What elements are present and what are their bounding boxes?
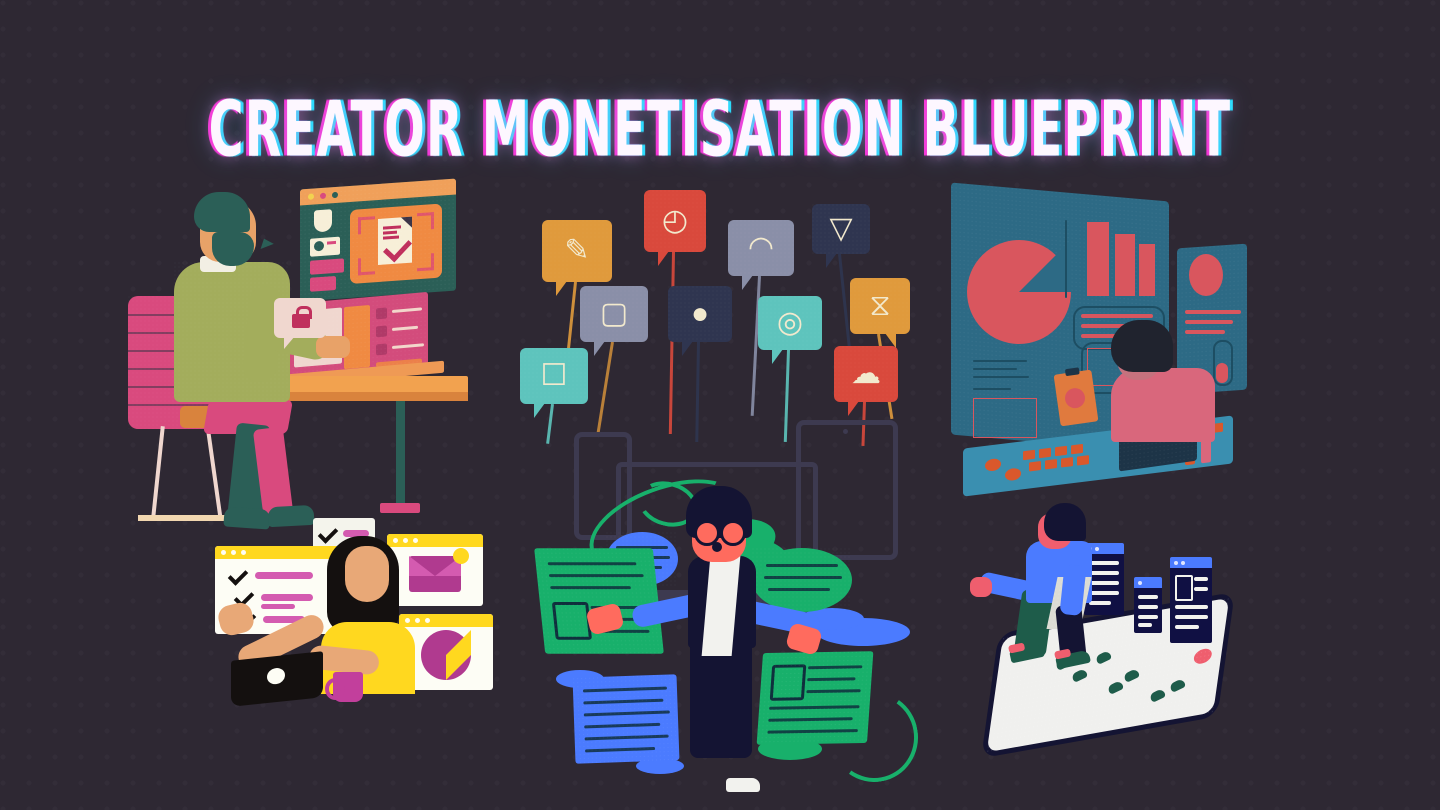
speech-bubble-tail [658, 251, 669, 266]
speech-bubble-tail [826, 253, 837, 268]
bubble-stick [669, 252, 675, 434]
hourglass-icon: ⧖ [850, 278, 910, 334]
document-icon [1175, 575, 1193, 601]
window-title-bar [1170, 557, 1212, 568]
list-item [310, 276, 336, 292]
person-mouth [712, 542, 722, 552]
person-hair [1044, 503, 1086, 541]
webcam-icon: ◎ [758, 296, 822, 350]
window-title-bar [1134, 577, 1162, 588]
gauge-ellipse [1189, 254, 1223, 296]
page-title: CREATOR MONETISATION BLUEPRINT CREATOR M… [0, 90, 1440, 170]
speech-bubble-tail [284, 336, 295, 349]
title-ghost-cyan: CREATOR MONETISATION BLUEPRINT [118, 81, 1328, 179]
notification-badge [453, 548, 469, 564]
illustration-icon-bubbles: ✎◴◠▽▢●◎⧖☐☁ [520, 190, 920, 420]
text-line [973, 360, 1027, 362]
window-dot-yellow [308, 193, 314, 199]
window-title-bar [215, 546, 341, 559]
glasses-icon [720, 520, 746, 546]
title-ghost-magenta: CREATOR MONETISATION BLUEPRINT [112, 81, 1322, 179]
text-line [973, 368, 1017, 370]
lock-speech-bubble [274, 298, 326, 338]
window-title-bar [399, 614, 493, 627]
speech-bubble-rss[interactable]: ◠ [728, 220, 794, 276]
speech-bubble-hourglass[interactable]: ⧖ [850, 278, 910, 334]
speech-bubble-tail [556, 281, 567, 296]
illustration-desk-worker [128, 178, 468, 528]
speech-bubble-tail [848, 401, 859, 416]
clipboard [1054, 370, 1099, 427]
bar-chart-bar [1139, 244, 1155, 296]
article-sheet [757, 651, 874, 745]
chat-bubble [752, 548, 852, 612]
bar-chart-bar [1087, 222, 1109, 296]
speech-bubble-chat-bubbles[interactable]: ▢ [580, 286, 648, 342]
person-torso [1111, 368, 1215, 442]
person-hand [316, 336, 350, 358]
bracket-corner [358, 216, 375, 234]
speech-bubble-tail [682, 341, 693, 356]
progress-bar [1185, 320, 1233, 324]
person-legs [690, 638, 752, 758]
window-dot-green [332, 192, 338, 198]
ice-cream-icon: ▽ [812, 204, 870, 254]
speech-bubble-trash-can[interactable]: ☐ [520, 348, 588, 404]
data-grid [973, 398, 1037, 438]
speech-bubble-tail [594, 341, 605, 356]
illustration-checklist-woman [205, 510, 485, 710]
clock-icon: ◴ [644, 190, 706, 252]
window-title-bar [387, 534, 483, 547]
globe-icon: ● [668, 286, 732, 342]
text-line [973, 388, 1011, 390]
speech-bubble-clock[interactable]: ◴ [644, 190, 706, 252]
monitor-screen [300, 179, 456, 302]
illustration-mobile-journey [960, 495, 1255, 750]
laptop-orange-pane [344, 305, 370, 369]
rss-icon: ◠ [728, 220, 794, 276]
gauge-meter [1213, 340, 1233, 386]
bracket-corner [417, 253, 434, 271]
laptop [231, 651, 323, 707]
poster-canvas: CREATOR MONETISATION BLUEPRINT CREATOR M… [0, 0, 1440, 810]
speech-bubble-webcam[interactable]: ◎ [758, 296, 822, 350]
progress-bar [1081, 314, 1153, 318]
chair-leg [151, 426, 165, 518]
person-head [345, 546, 389, 602]
bar-chart-bar [1115, 234, 1135, 296]
title-text: CREATOR MONETISATION BLUEPRINT [115, 81, 1325, 179]
shield-icon [314, 209, 332, 232]
text-line [973, 376, 1029, 378]
pencil-icon: ✎ [542, 220, 612, 282]
progress-bar [1185, 310, 1241, 314]
article-sheet [573, 674, 680, 764]
person-hand [970, 577, 992, 597]
speech-bubble-tail [742, 275, 753, 290]
person-shoe [726, 778, 760, 792]
illustration-content-juggler [530, 420, 920, 800]
illustration-analytics-dashboard [945, 192, 1245, 497]
person-beard [212, 232, 254, 266]
speech-bubble-globe[interactable]: ● [668, 286, 732, 342]
speech-bubble-ice-cream[interactable]: ▽ [812, 204, 870, 254]
email-window [387, 534, 483, 606]
home-indicator [1193, 647, 1213, 665]
document-preview-panel [350, 204, 442, 284]
person-hair [1111, 320, 1173, 372]
desk-leg [396, 401, 405, 505]
tablet-outline [796, 420, 898, 560]
window-dot-pink [320, 193, 326, 199]
bracket-corner [417, 212, 434, 230]
progress-bar [1185, 330, 1225, 334]
speech-bubble-tail [772, 349, 783, 364]
speech-bubble-tail [534, 403, 545, 418]
chat-bubbles-icon: ▢ [580, 286, 648, 342]
trash-can-icon: ☐ [520, 348, 588, 404]
app-window[interactable] [1170, 557, 1212, 643]
coffee-mug [333, 672, 363, 702]
list-item [310, 258, 344, 274]
rain-cloud-icon: ☁ [834, 346, 898, 402]
cursor-arrow-icon [261, 239, 275, 253]
app-window[interactable] [1134, 577, 1162, 633]
article-sheet [534, 548, 664, 653]
speech-bubble-pencil[interactable]: ✎ [542, 220, 612, 282]
monitor-title-bar [300, 179, 456, 206]
chair-leg [206, 426, 223, 518]
speech-bubble-rain-cloud[interactable]: ☁ [834, 346, 898, 402]
person-hair [194, 192, 250, 232]
chart-axis [1065, 220, 1067, 298]
document-check-icon [378, 217, 412, 265]
bracket-corner [358, 257, 375, 275]
envelope-icon [409, 556, 461, 592]
list-item [310, 237, 340, 257]
